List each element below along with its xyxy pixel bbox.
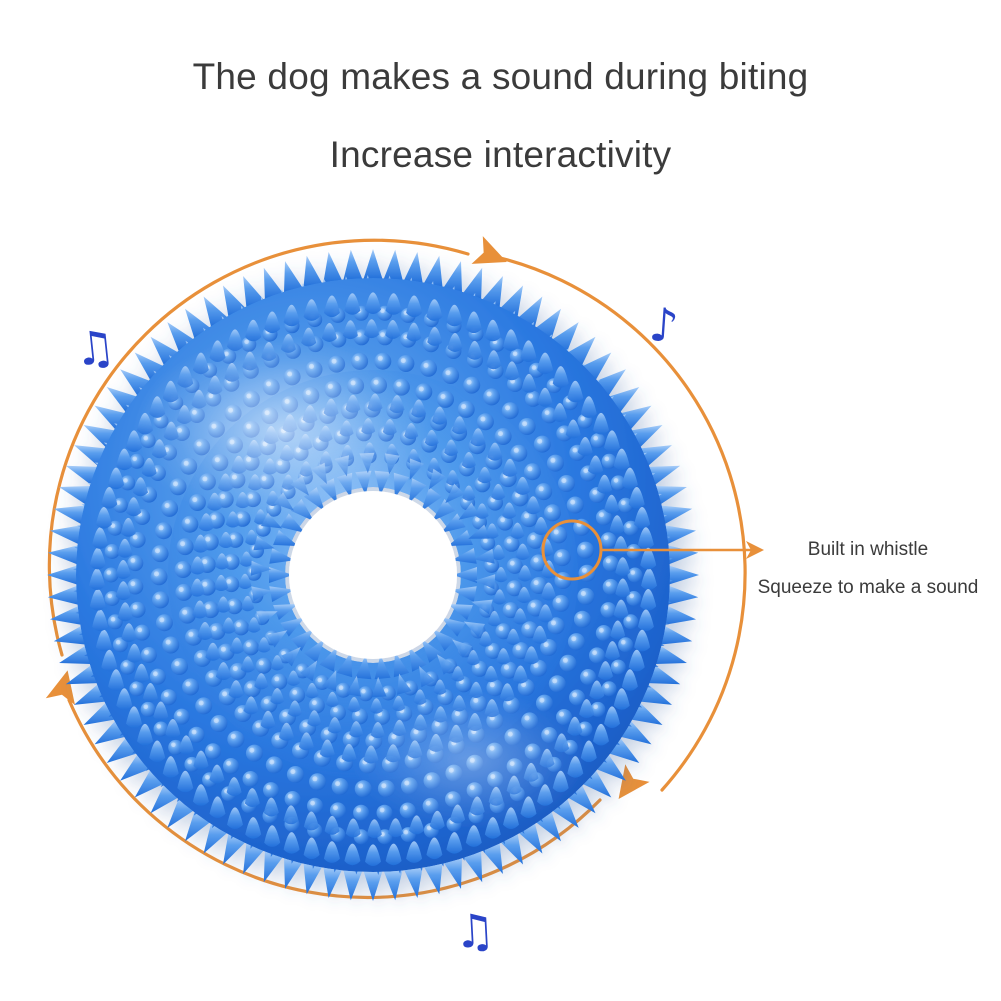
product-nub <box>437 391 454 408</box>
product-nub-highlight <box>582 568 587 573</box>
product-nub-highlight <box>333 708 338 713</box>
product-nub <box>152 545 169 562</box>
product-nub <box>287 766 304 783</box>
product-nub <box>155 522 172 539</box>
product-nub-highlight <box>605 457 610 462</box>
product-nub-highlight <box>621 640 626 645</box>
product-nub-highlight <box>629 594 634 599</box>
product-nub <box>626 544 641 559</box>
product-nub-highlight <box>534 580 539 585</box>
product-nub-highlight <box>230 601 235 606</box>
product-nub-highlight <box>531 603 536 608</box>
product-nub-highlight <box>236 622 241 627</box>
product-nub <box>127 555 143 571</box>
product-nub-highlight <box>153 671 158 676</box>
product-nub <box>271 674 287 690</box>
product-nub-highlight <box>209 673 214 678</box>
product-nub-highlight <box>208 746 213 751</box>
product-nub-highlight <box>505 405 510 410</box>
product-nub <box>601 532 617 548</box>
product-nub <box>525 391 541 407</box>
product-nub-highlight <box>292 690 297 695</box>
arrowhead-left <box>46 667 82 705</box>
product-nub <box>289 687 305 703</box>
product-nub-highlight <box>614 662 619 667</box>
product-nub <box>243 639 259 655</box>
product-nub-highlight <box>500 517 505 522</box>
product-nub-highlight <box>266 785 271 790</box>
product-nub-highlight <box>583 672 588 677</box>
product-nub-highlight <box>504 665 509 670</box>
product-nub-highlight <box>514 448 519 453</box>
product-nub-highlight <box>592 650 597 655</box>
product-spike <box>669 566 699 585</box>
product-nub <box>141 702 156 717</box>
music-note-bottom: ♫ <box>453 903 497 959</box>
product-nub-highlight <box>380 308 385 313</box>
product-nub-highlight <box>424 363 429 368</box>
product-nub-highlight <box>606 582 611 587</box>
product-nub-highlight <box>111 617 116 622</box>
product-nub <box>596 625 612 641</box>
product-nub-highlight <box>202 559 207 564</box>
product-nub-highlight <box>231 734 236 739</box>
product-nub-highlight <box>581 545 586 550</box>
product-nub <box>205 743 221 759</box>
product-nub-highlight <box>238 708 243 713</box>
product-nub <box>171 658 188 675</box>
product-nub <box>134 625 150 641</box>
product-nub-highlight <box>561 478 566 483</box>
product-nub-highlight <box>214 718 219 723</box>
product-nub <box>150 669 166 685</box>
product-nub-highlight <box>246 774 251 779</box>
product-nub-highlight <box>446 370 451 375</box>
product-nub-highlight <box>318 678 323 683</box>
product-nub-highlight <box>171 743 176 748</box>
product-nub-highlight <box>131 581 136 586</box>
product-nub-highlight <box>528 394 533 399</box>
product-nub <box>330 705 346 721</box>
product-nub-highlight <box>621 500 626 505</box>
product-nub <box>602 681 617 696</box>
product-nub <box>285 791 301 807</box>
product-nub-highlight <box>188 632 193 637</box>
product-nub <box>420 360 437 377</box>
product-nub-highlight <box>264 699 269 704</box>
product-nub <box>477 413 494 430</box>
product-nub-highlight <box>155 595 160 600</box>
product-nub-highlight <box>544 642 549 647</box>
product-nub-highlight <box>490 682 495 687</box>
product-spike <box>47 566 77 585</box>
product-nub-highlight <box>159 617 164 622</box>
product-nub <box>577 588 594 605</box>
product-nub-highlight <box>226 761 231 766</box>
product-nub-highlight <box>274 677 279 682</box>
product-nub-highlight <box>537 439 542 444</box>
product-nub-highlight <box>137 628 142 633</box>
product-nub-highlight <box>577 614 582 619</box>
product-nub-highlight <box>132 457 137 462</box>
product-spike <box>668 545 699 564</box>
product-nub <box>227 731 244 748</box>
product-nub-highlight <box>599 628 604 633</box>
product-nub-highlight <box>506 605 511 610</box>
product-nub-highlight <box>197 653 202 658</box>
product-nub <box>569 690 585 706</box>
product-spike <box>343 250 362 280</box>
product-nub-highlight <box>614 478 619 483</box>
product-infographic: The dog makes a sound during biting Incr… <box>0 0 1001 1001</box>
product-nub <box>502 402 519 419</box>
product-nub-highlight <box>275 735 280 740</box>
product-nub <box>442 367 459 384</box>
product-nub <box>189 727 205 743</box>
product-nub <box>156 614 173 631</box>
product-nub-highlight <box>604 535 609 540</box>
product-nub-highlight <box>557 552 562 557</box>
product-nub-highlight <box>144 650 149 655</box>
product-nub-highlight <box>404 830 409 835</box>
product-nub <box>463 377 480 394</box>
product-nub-highlight <box>488 646 493 651</box>
product-nub <box>547 455 564 472</box>
product-nub <box>256 658 272 674</box>
product-nub-highlight <box>516 645 521 650</box>
product-nub-highlight <box>606 558 611 563</box>
product-nub <box>105 544 120 559</box>
product-nub <box>534 436 551 453</box>
product-nub-highlight <box>205 537 210 542</box>
product-nub <box>181 516 198 533</box>
product-nub-highlight <box>507 539 512 544</box>
product-nub-highlight <box>312 700 317 705</box>
product-nub-highlight <box>298 666 303 671</box>
product-nub <box>567 497 584 514</box>
product-nub-highlight <box>107 570 112 575</box>
product-nub <box>628 568 643 583</box>
product-nub-highlight <box>206 604 211 609</box>
product-nub-highlight <box>282 712 287 717</box>
product-nub <box>580 669 596 685</box>
music-note-left: ♫ <box>72 319 119 377</box>
product-nub <box>307 798 323 814</box>
product-nub <box>243 771 259 787</box>
product-nub <box>175 584 192 601</box>
product-nub-highlight <box>259 661 264 666</box>
product-nub-highlight <box>123 662 128 667</box>
product-nub <box>535 483 552 500</box>
product-nub-highlight <box>605 684 610 689</box>
product-nub-highlight <box>159 525 164 530</box>
product-nub-highlight <box>177 712 182 717</box>
product-nub-highlight <box>256 723 261 728</box>
product-nub <box>524 463 541 480</box>
product-nub-highlight <box>554 530 559 535</box>
artwork-stage: ♫ ♪ ♫ <box>0 0 1001 1001</box>
product-nub-highlight <box>524 513 529 518</box>
product-nub-highlight <box>339 685 344 690</box>
product-nub-highlight <box>247 684 252 689</box>
product-nub <box>177 538 194 555</box>
product-nub-highlight <box>227 579 232 584</box>
product-nub <box>397 355 414 372</box>
product-nub-highlight <box>604 605 609 610</box>
product-nub-highlight <box>231 535 236 540</box>
product-nub <box>246 745 263 762</box>
product-nub-highlight <box>631 570 636 575</box>
product-nub-highlight <box>133 535 138 540</box>
product-nub <box>458 401 475 418</box>
product-nub-highlight <box>233 666 238 671</box>
product-nub-highlight <box>467 380 472 385</box>
product-nub <box>127 579 143 595</box>
product-image <box>47 249 699 901</box>
product-nub <box>574 611 591 628</box>
product-nub-highlight <box>527 466 532 471</box>
product-spike <box>668 586 699 605</box>
product-nub <box>210 715 227 732</box>
product-nub <box>223 758 239 774</box>
product-nub-highlight <box>222 691 227 696</box>
product-nub-highlight <box>461 404 466 409</box>
product-nub-highlight <box>186 682 191 687</box>
product-nub-highlight <box>178 564 183 569</box>
product-nub-highlight <box>312 776 317 781</box>
product-nub <box>611 660 626 675</box>
product-nub-highlight <box>212 626 217 631</box>
product-nub <box>141 647 157 663</box>
product-nub <box>483 388 500 405</box>
callout-line-2: Squeeze to make a sound <box>744 578 992 597</box>
product-nub-highlight <box>483 538 488 543</box>
product-nub <box>549 675 566 692</box>
product-nub-highlight <box>288 794 293 799</box>
product-nub <box>266 756 283 773</box>
product-nub <box>600 602 616 618</box>
product-nub-highlight <box>131 558 136 563</box>
callout-line-1: Built in whistle <box>750 540 986 559</box>
product-nub <box>129 681 144 696</box>
product-nub-highlight <box>165 503 170 508</box>
product-nub <box>263 782 279 798</box>
product-nub <box>510 445 527 462</box>
product-nub-highlight <box>116 640 121 645</box>
music-note-top-right: ♪ <box>647 297 680 353</box>
product-nub-highlight <box>180 541 185 546</box>
product-nub <box>558 475 575 492</box>
product-spike <box>661 626 692 645</box>
product-nub-highlight <box>123 478 128 483</box>
product-nub-highlight <box>487 392 492 397</box>
product-nub-highlight <box>480 417 485 422</box>
product-nub-highlight <box>545 410 550 415</box>
product-nub-highlight <box>249 748 254 753</box>
product-nub <box>495 428 512 445</box>
product-nub-highlight <box>108 594 113 599</box>
product-nub-highlight <box>333 805 338 810</box>
product-nub-highlight <box>164 692 169 697</box>
product-nub-highlight <box>132 684 137 689</box>
product-nub <box>182 678 199 695</box>
product-nub-highlight <box>592 490 597 495</box>
product-nub-highlight <box>534 558 539 563</box>
product-nub-highlight <box>144 705 149 710</box>
product-nub-highlight <box>175 661 180 666</box>
product-nub-highlight <box>166 640 171 645</box>
product-nub <box>544 504 561 521</box>
product-nub <box>568 633 585 650</box>
product-nub-highlight <box>560 428 565 433</box>
product-nub-highlight <box>269 760 274 765</box>
artwork-svg: ♫ ♪ ♫ <box>0 0 1001 1001</box>
product-nub-highlight <box>133 605 138 610</box>
product-nub-highlight <box>530 535 535 540</box>
product-nub-highlight <box>510 583 515 588</box>
product-nub-highlight <box>187 760 192 765</box>
product-nub-highlight <box>401 358 406 363</box>
product-nub <box>161 500 178 517</box>
product-nub-highlight <box>246 642 251 647</box>
product-nub-highlight <box>539 698 544 703</box>
product-nub <box>161 689 177 705</box>
product-nub-highlight <box>179 587 184 592</box>
product-nub-highlight <box>108 547 113 552</box>
product-gloss-highlight-2 <box>350 690 590 830</box>
product-nub-highlight <box>580 416 585 421</box>
product-nub <box>353 805 369 821</box>
product-nub <box>152 591 169 608</box>
product-nub-highlight <box>532 365 537 370</box>
product-nub-highlight <box>155 548 160 553</box>
product-nub-highlight <box>513 352 518 357</box>
product-nub <box>519 418 536 435</box>
product-nub <box>162 637 179 654</box>
product-nub <box>195 697 212 714</box>
product-nub-highlight <box>335 781 340 786</box>
product-spike <box>54 506 85 525</box>
product-nub-highlight <box>361 689 366 694</box>
product-nub-highlight <box>570 500 575 505</box>
product-nub-highlight <box>310 801 315 806</box>
product-nub-highlight <box>525 624 530 629</box>
product-nub-highlight <box>593 705 598 710</box>
product-nub-highlight <box>599 512 604 517</box>
product-spike <box>364 249 383 279</box>
product-nub-highlight <box>221 647 226 652</box>
product-spike <box>661 506 692 525</box>
product-nub-highlight <box>571 636 576 641</box>
product-spike <box>665 606 696 625</box>
product-nub-highlight <box>199 701 204 706</box>
product-nub <box>233 619 249 635</box>
product-nub <box>332 778 349 795</box>
product-center-hole <box>289 491 457 659</box>
product-nub-highlight <box>380 332 385 337</box>
product-nub-highlight <box>498 431 503 436</box>
product-nub-highlight <box>419 387 424 392</box>
product-nub-highlight <box>192 730 197 735</box>
product-nub-highlight <box>499 626 504 631</box>
product-spike <box>404 252 423 283</box>
product-nub-highlight <box>522 421 527 426</box>
product-nub-highlight <box>556 598 561 603</box>
product-nub-highlight <box>563 658 568 663</box>
product-nub-highlight <box>583 468 588 473</box>
product-nub <box>309 697 325 713</box>
product-spike <box>304 256 323 287</box>
product-spike <box>48 545 79 564</box>
product-nub-highlight <box>626 617 631 622</box>
product-nub-highlight <box>157 724 162 729</box>
product-nub <box>577 542 594 559</box>
product-nub-highlight <box>551 620 556 625</box>
product-nub-highlight <box>303 722 308 727</box>
product-nub <box>589 647 605 663</box>
product-nub <box>618 637 633 652</box>
product-nub-highlight <box>593 436 598 441</box>
product-nub-highlight <box>227 557 232 562</box>
product-nub-highlight <box>550 458 555 463</box>
product-nub-highlight <box>539 486 544 491</box>
product-nub-highlight <box>573 448 578 453</box>
product-spike <box>323 252 342 283</box>
product-nub <box>175 561 192 578</box>
product-nub-highlight <box>205 775 210 780</box>
product-nub <box>554 549 571 566</box>
product-nub <box>151 568 168 585</box>
product-nub-highlight <box>510 561 515 566</box>
product-nub-highlight <box>154 571 159 576</box>
product-nub-highlight <box>626 523 631 528</box>
product-nub-highlight <box>290 769 295 774</box>
product-nub <box>590 433 605 448</box>
product-spike <box>50 525 81 544</box>
product-nub <box>560 655 577 672</box>
product-nub-highlight <box>581 591 586 596</box>
product-nub-highlight <box>185 519 190 524</box>
product-nub-highlight <box>182 610 187 615</box>
product-nub-highlight <box>572 692 577 697</box>
product-nub-highlight <box>552 678 557 683</box>
product-spike <box>665 525 696 544</box>
arrowhead-top <box>472 236 513 276</box>
product-nub-highlight <box>548 507 553 512</box>
product-spike <box>384 250 403 280</box>
product-nub-highlight <box>202 582 207 587</box>
product-nub-highlight <box>441 394 446 399</box>
product-nub-highlight <box>356 808 361 813</box>
product-nub <box>309 773 326 790</box>
